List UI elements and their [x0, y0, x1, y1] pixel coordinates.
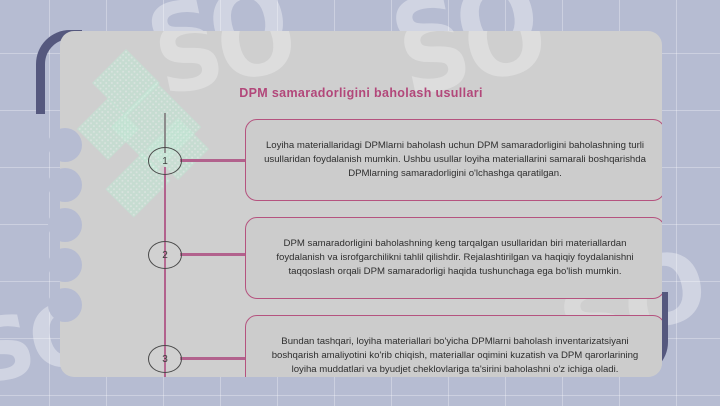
scallop-decoration	[48, 208, 82, 242]
slide-canvas: SO SO SO SO SO SO SO DPM samaradorligini…	[0, 0, 720, 406]
content-box-text: Loyiha materiallaridagi DPMlarni baholas…	[264, 139, 646, 182]
timeline-node-3[interactable]: 3	[148, 345, 182, 373]
content-box-2[interactable]: DPM samaradorligini baholashning keng ta…	[245, 217, 662, 299]
content-box-text: DPM samaradorligini baholashning keng ta…	[264, 237, 646, 280]
content-box-text: Bundan tashqari, loyiha materiallari bo'…	[264, 335, 646, 377]
timeline-node-label: 1	[162, 156, 168, 167]
timeline-node-label: 3	[162, 354, 168, 365]
timeline-connector	[180, 357, 246, 360]
page-title: DPM samaradorligini baholash usullari	[60, 86, 662, 100]
timeline-connector	[180, 253, 246, 256]
timeline-connector	[180, 159, 246, 162]
scallop-decoration	[48, 288, 82, 322]
content-box-1[interactable]: Loyiha materiallaridagi DPMlarni baholas…	[245, 119, 662, 201]
scallop-decoration	[48, 168, 82, 202]
scallop-decoration	[48, 128, 82, 162]
timeline-node-label: 2	[162, 250, 168, 261]
timeline-node-1[interactable]: 1	[148, 147, 182, 175]
timeline-node-2[interactable]: 2	[148, 241, 182, 269]
content-card: SO SO SO DPM samaradorligini baholash us…	[60, 31, 662, 377]
scallop-decoration	[48, 248, 82, 282]
content-box-3[interactable]: Bundan tashqari, loyiha materiallari bo'…	[245, 315, 662, 377]
